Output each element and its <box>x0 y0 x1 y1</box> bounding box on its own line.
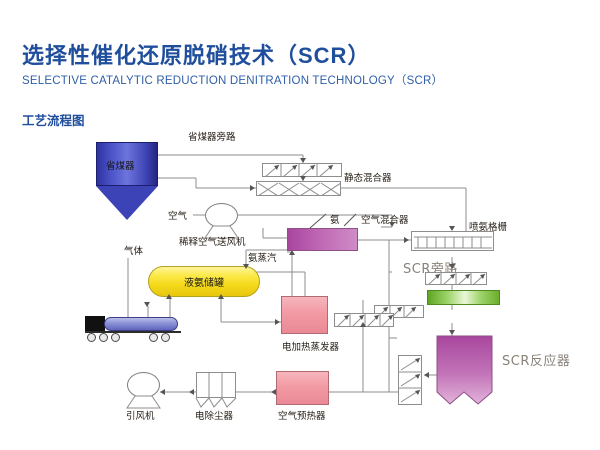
electric-heater-label: 电加热蒸发器 <box>282 339 339 353</box>
esp-body[interactable] <box>196 372 236 398</box>
air-mixer[interactable] <box>287 228 358 251</box>
truck-cab <box>85 316 105 331</box>
scr-reactor-label: SCR反应器 <box>502 350 570 369</box>
air-mixer-label: 空气混合器 <box>361 212 409 226</box>
air-label: 空气 <box>168 208 187 222</box>
arrow <box>424 372 429 378</box>
aig-nozzles-icon <box>412 232 494 251</box>
ammonia-injection-grid[interactable] <box>411 231 494 251</box>
outlet-damper[interactable] <box>398 355 422 405</box>
economizer-cone <box>96 186 158 220</box>
truck-wheel <box>111 333 120 342</box>
truck-wheel <box>161 333 170 342</box>
damper-blades-icon <box>426 273 487 285</box>
arrow <box>166 294 172 299</box>
arrow <box>271 389 276 395</box>
x-mixer-icon <box>257 182 341 196</box>
arrow <box>449 264 455 269</box>
section-label: 工艺流程图 <box>22 110 85 129</box>
id-fan-label: 引风机 <box>126 408 155 422</box>
truck-wheel <box>99 333 108 342</box>
arrow <box>243 264 249 269</box>
static-mixer[interactable] <box>256 181 341 196</box>
arrow <box>275 319 280 325</box>
air-preheater-label: 空气预热器 <box>278 408 326 422</box>
gas-label: 气体 <box>124 243 143 257</box>
arrow <box>449 330 455 335</box>
electric-heater[interactable] <box>281 296 328 334</box>
air-preheater[interactable] <box>276 371 329 405</box>
arrow <box>300 176 306 181</box>
arrow <box>300 158 306 163</box>
arrow <box>360 322 366 327</box>
arrow <box>404 237 409 243</box>
ammonia-tank-label: 液氨储罐 <box>184 274 224 289</box>
catalyst-layer[interactable] <box>427 290 500 305</box>
id-fan-icon <box>127 372 160 398</box>
arrow <box>289 250 295 255</box>
static-mixer-label: 静态混合器 <box>344 170 392 184</box>
truck-wheel <box>149 333 158 342</box>
arrow <box>160 389 165 395</box>
arrow <box>189 389 194 395</box>
slide-canvas: 选择性催化还原脱硝技术（SCR） SELECTIVE CATALYTIC RED… <box>0 0 600 450</box>
page-subtitle: SELECTIVE CATALYTIC REDUCTION DENITRATIO… <box>22 72 443 88</box>
damper-blades-icon <box>399 356 422 405</box>
economizer-bypass-label: 省煤器旁路 <box>188 129 236 143</box>
aig-label: 喷氨格栅 <box>469 219 507 233</box>
arrow <box>389 222 395 227</box>
dilution-fan-icon <box>205 203 238 228</box>
ammonia-tank[interactable]: 液氨储罐 <box>148 266 260 297</box>
dilution-fan-label: 稀释空气送风机 <box>179 234 246 248</box>
arrow <box>250 185 255 191</box>
page-title: 选择性催化还原脱硝技术（SCR） <box>22 38 370 70</box>
arrow <box>218 294 224 299</box>
esp-label: 电除尘器 <box>195 408 233 422</box>
ammonia-label: 氨 <box>330 212 340 226</box>
truck-wheel <box>87 333 96 342</box>
ammonia-vapor-label: 氨蒸汽 <box>248 250 277 264</box>
arrow <box>449 226 455 231</box>
bypass-damper[interactable] <box>262 163 342 177</box>
arrow <box>144 302 150 307</box>
economizer-label: 省煤器 <box>106 158 135 172</box>
truck-tank <box>104 317 178 331</box>
scr-inlet-damper[interactable] <box>425 272 487 285</box>
